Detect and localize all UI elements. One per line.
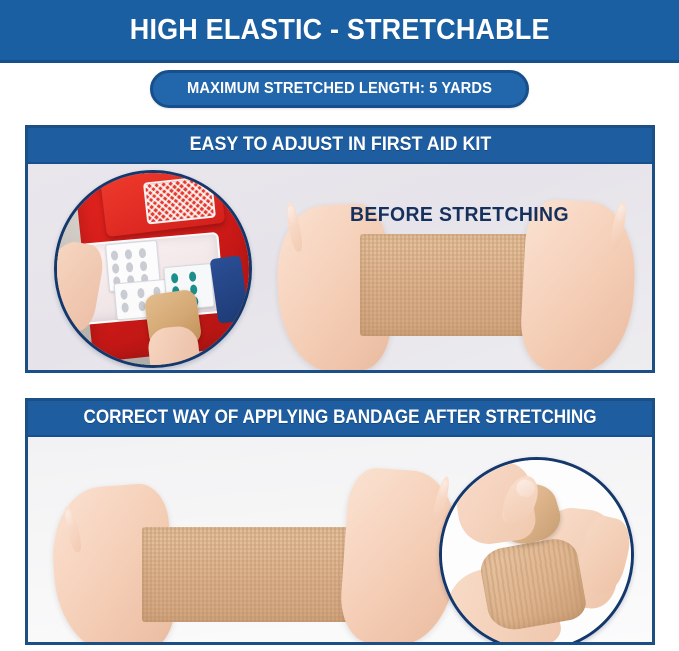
badge-strip: MAXIMUM STRETCHED LENGTH: 5 YARDS — [0, 63, 679, 115]
panel-two-body — [28, 437, 652, 642]
max-length-badge: MAXIMUM STRETCHED LENGTH: 5 YARDS — [150, 70, 529, 108]
fingernail — [615, 205, 625, 222]
product-infographic: HIGH ELASTIC - STRETCHABLE MAXIMUM STRET… — [0, 0, 679, 651]
panel-correct-way: CORRECT WAY OF APPLYING BANDAGE AFTER ST… — [25, 398, 655, 645]
panel-one-header-title: EASY TO ADJUST IN FIRST AID KIT — [189, 134, 491, 156]
panel-two-header: CORRECT WAY OF APPLYING BANDAGE AFTER ST… — [28, 401, 652, 437]
fingernail — [514, 477, 537, 499]
max-length-badge-label: MAXIMUM STRETCHED LENGTH: 5 YARDS — [187, 80, 492, 98]
thumb-left — [62, 504, 84, 552]
before-stretching-label: BEFORE STRETCHING — [350, 204, 569, 227]
wrist-wrapping-scene — [442, 460, 631, 645]
first-aid-kit-photo — [54, 170, 252, 368]
panel-easy-to-adjust: EASY TO ADJUST IN FIRST AID KIT — [25, 125, 655, 373]
bandage-wrapped-on-wrist — [477, 535, 588, 634]
header-band: HIGH ELASTIC - STRETCHABLE — [0, 0, 679, 63]
kit-mesh-pocket — [143, 175, 216, 224]
fingernail — [288, 206, 298, 224]
hands-holding-stretched-bandage-photo — [50, 459, 470, 645]
fingernail — [65, 509, 75, 526]
thumb-right — [608, 201, 628, 250]
panel-one-body: BEFORE STRETCHING — [28, 164, 652, 370]
first-aid-kit-scene — [57, 173, 249, 365]
thumb-left — [285, 201, 305, 252]
wrist-bandage-wrapping-photo — [439, 457, 634, 645]
page-title: HIGH ELASTIC - STRETCHABLE — [130, 14, 550, 47]
panel-two-header-title: CORRECT WAY OF APPLYING BANDAGE AFTER ST… — [83, 407, 596, 429]
panel-one-header: EASY TO ADJUST IN FIRST AID KIT — [28, 128, 652, 164]
